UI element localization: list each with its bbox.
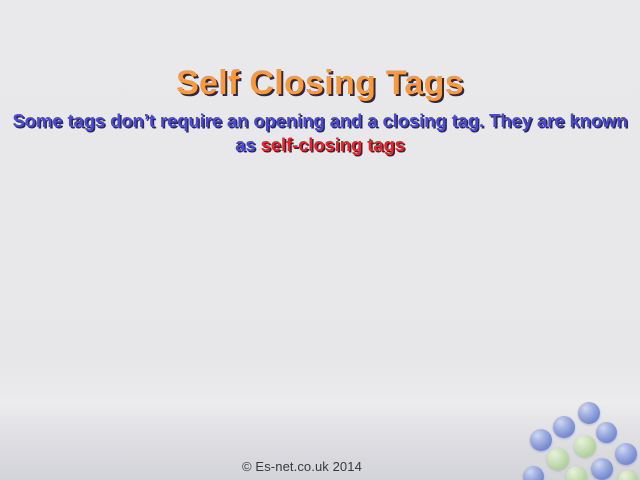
decorative-sphere-blue <box>615 443 637 465</box>
subtitle-text: Some tags don’t require an opening and a… <box>6 109 634 158</box>
decorative-sphere-blue <box>578 402 600 424</box>
decorative-sphere-blue <box>553 416 575 438</box>
decorative-sphere-blue <box>530 429 552 451</box>
slide-canvas: Self Closing Tags Some tags don’t requir… <box>0 0 640 480</box>
copyright-footer: © Es-net.co.uk 2014 <box>0 459 604 474</box>
decorative-sphere-green <box>618 470 638 480</box>
page-title: Self Closing Tags <box>0 65 640 102</box>
decorative-sphere-blue <box>596 422 617 443</box>
decorative-sphere-green <box>574 435 596 457</box>
subtitle-highlight: self-closing tags <box>261 134 405 155</box>
